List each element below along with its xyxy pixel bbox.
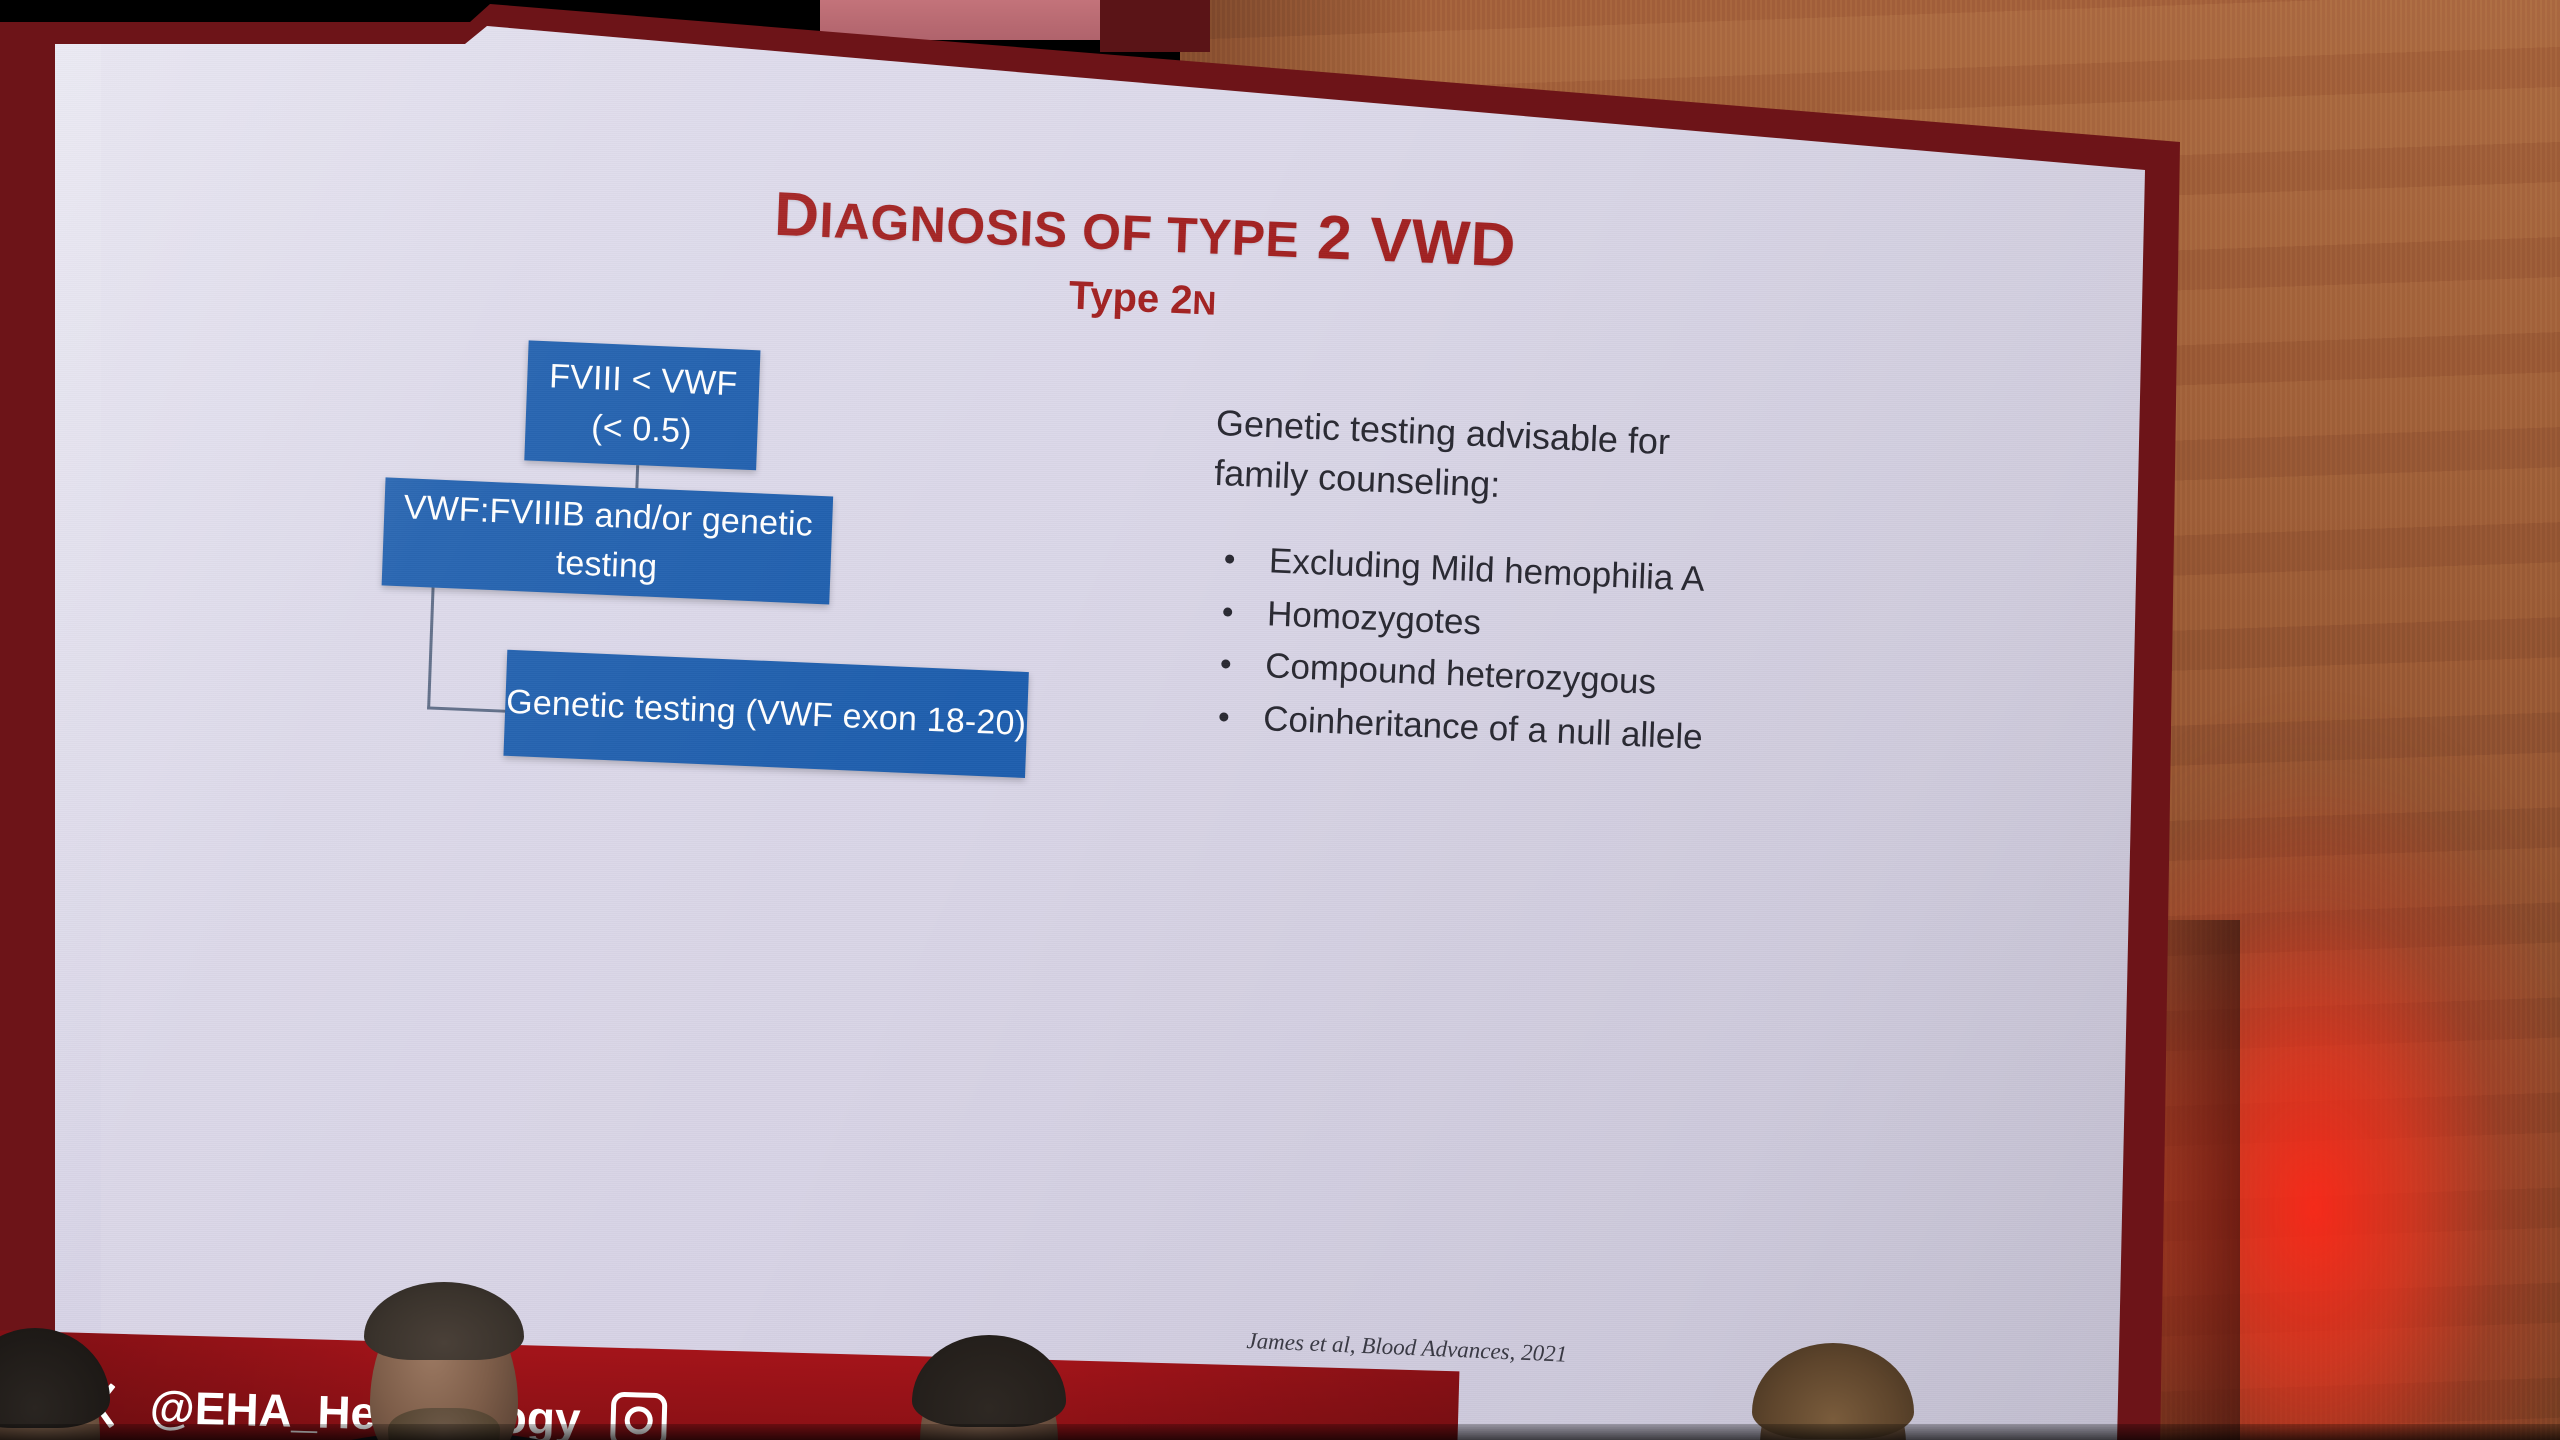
list-item-label: Homozygotes [1266,594,1481,642]
flowchart: FVIII < VWF (< 0.5) VWF:FVIIIB and/or ge… [100,52,2149,1440]
presentation-slide: DIAGNOSIS OF TYPE 2 VWD Type 2N FVIII < … [100,52,2149,1440]
bullet-dot-icon [1225,555,1234,564]
list-item-label: Compound heterozygous [1265,646,1657,702]
flowchart-box-genetic-testing-exon: Genetic testing (VWF exon 18-20) [503,650,1028,778]
screen-left-margin [55,44,101,1440]
right-column-bullet-list: Excluding Mild hemophilia A Homozygotes … [1204,536,1731,768]
flowchart-box1-line1: FVIII < VWF [548,352,738,409]
audience-head [370,1290,518,1440]
right-column-heading: Genetic testing advisable for family cou… [1213,398,1686,517]
list-item-label: Coinheritance of a null allele [1263,699,1704,757]
connector-box2-to-box3-horizontal [427,706,507,712]
upper-wall-dark-column [1100,0,1210,52]
conference-room-photo: DIAGNOSIS OF TYPE 2 VWD Type 2N FVIII < … [0,0,2560,1440]
bullet-dot-icon [1221,660,1230,669]
connector-box1-to-box2 [635,465,639,488]
bullet-dot-icon [1223,607,1232,616]
flowchart-box-fviii-vwf: FVIII < VWF (< 0.5) [524,340,760,470]
projection-screen: DIAGNOSIS OF TYPE 2 VWD Type 2N FVIII < … [55,18,2155,1440]
bullet-dot-icon [1219,712,1228,721]
flowchart-box-vwf-fviiib-testing: VWF:FVIIIB and/or genetic testing [382,477,834,604]
upper-wall-pink-strip [820,0,1120,40]
connector-box2-to-box3-vertical [427,587,434,709]
bottom-vignette [0,1424,2560,1440]
flowchart-box1-line2: (< 0.5) [590,403,692,457]
